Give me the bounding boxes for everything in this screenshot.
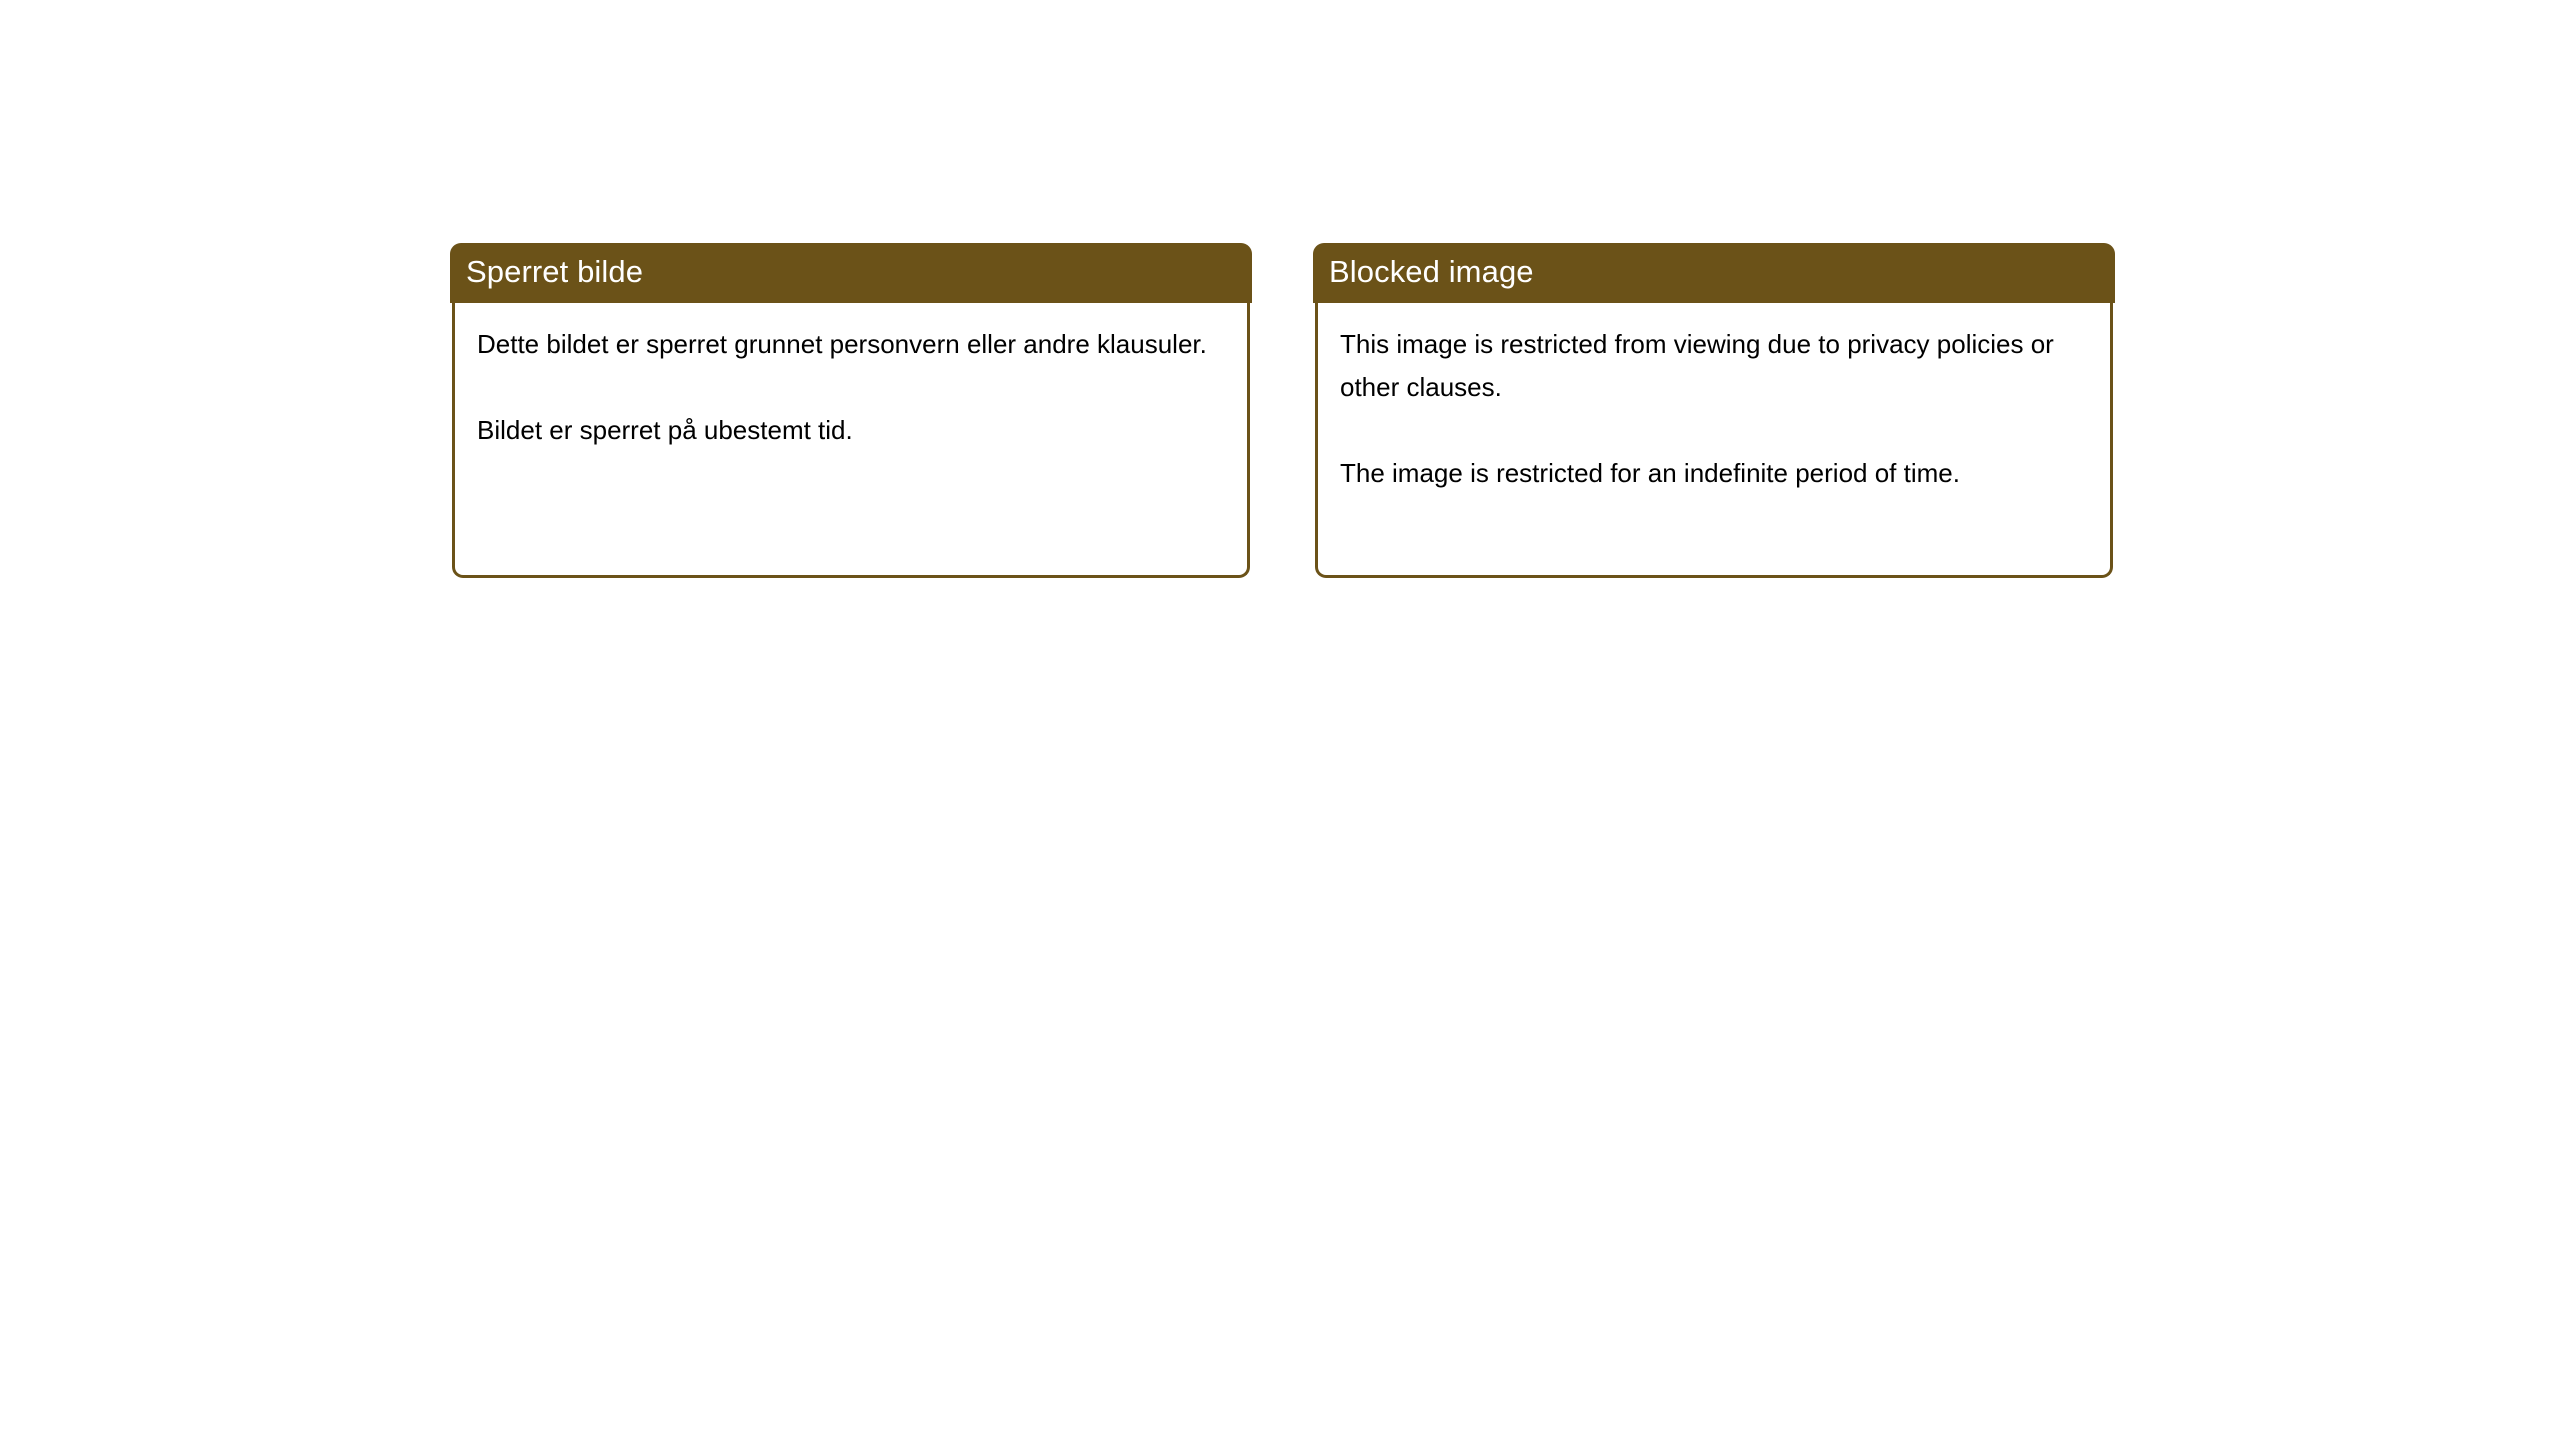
notice-paragraph-primary-no: Dette bildet er sperret grunnet personve… <box>477 323 1225 366</box>
blocked-image-notice-panel-no: Sperret bilde Dette bildet er sperret gr… <box>450 243 1252 578</box>
notice-paragraph-secondary-en: The image is restricted for an indefinit… <box>1340 452 2088 495</box>
blocked-image-notice-panel-en: Blocked image This image is restricted f… <box>1313 243 2115 578</box>
page-canvas: Sperret bilde Dette bildet er sperret gr… <box>0 0 2560 1440</box>
notice-paragraph-secondary-no: Bildet er sperret på ubestemt tid. <box>477 409 1225 452</box>
notice-body-no: Dette bildet er sperret grunnet personve… <box>452 303 1250 578</box>
notice-title-en: Blocked image <box>1329 255 1534 289</box>
notice-header-en: Blocked image <box>1313 243 2115 303</box>
notice-body-en: This image is restricted from viewing du… <box>1315 303 2113 578</box>
notice-title-no: Sperret bilde <box>466 255 643 289</box>
notice-paragraph-primary-en: This image is restricted from viewing du… <box>1340 323 2088 409</box>
notice-body-wrap-no: Dette bildet er sperret grunnet personve… <box>450 303 1252 578</box>
notice-body-wrap-en: This image is restricted from viewing du… <box>1313 303 2115 578</box>
notice-header-no: Sperret bilde <box>450 243 1252 303</box>
